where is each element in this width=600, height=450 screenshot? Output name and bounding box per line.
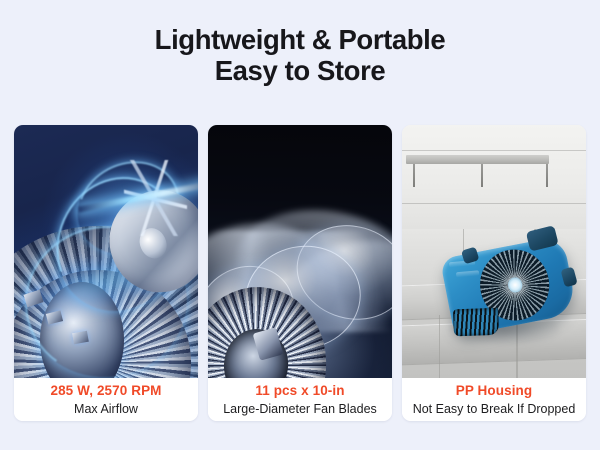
wall-seam (402, 150, 586, 151)
page-title-line-2: Easy to Store (0, 55, 600, 86)
room-wall (402, 125, 586, 229)
air-outlet-vent (454, 308, 500, 337)
housing-image (402, 125, 586, 378)
motor-caption: 285 W, 2570 RPM Max Airflow (14, 378, 198, 421)
background-bench (406, 155, 550, 164)
feature-card-blades[interactable]: 11 pcs x 10-in Large-Diameter Fan Blades (208, 125, 392, 421)
bench-leg (481, 164, 483, 187)
feature-card-row: 285 W, 2570 RPM Max Airflow 11 pcs x 10-… (14, 125, 586, 421)
bench-leg (546, 164, 548, 187)
motor-spec-secondary: Max Airflow (74, 401, 138, 418)
page-title: Lightweight & Portable Easy to Store (0, 24, 600, 86)
blades-caption: 11 pcs x 10-in Large-Diameter Fan Blades (208, 378, 392, 421)
feature-card-housing[interactable]: PP Housing Not Easy to Break If Dropped (402, 125, 586, 421)
motor-image (14, 125, 198, 378)
page-title-line-1: Lightweight & Portable (0, 24, 600, 55)
housing-caption: PP Housing Not Easy to Break If Dropped (402, 378, 586, 421)
blades-spec-primary: 11 pcs x 10-in (255, 382, 344, 399)
housing-spec-primary: PP Housing (456, 382, 533, 399)
motor-spec-primary: 285 W, 2570 RPM (50, 382, 161, 399)
bench-leg (413, 164, 415, 187)
tile-grout-line (439, 315, 441, 378)
wall-seam (402, 203, 586, 204)
blades-spec-secondary: Large-Diameter Fan Blades (223, 401, 377, 418)
housing-spec-secondary: Not Easy to Break If Dropped (413, 401, 576, 418)
blades-image (208, 125, 392, 378)
promo-banner: Lightweight & Portable Easy to Store 2 (0, 0, 600, 450)
feature-card-motor[interactable]: 285 W, 2570 RPM Max Airflow (14, 125, 198, 421)
